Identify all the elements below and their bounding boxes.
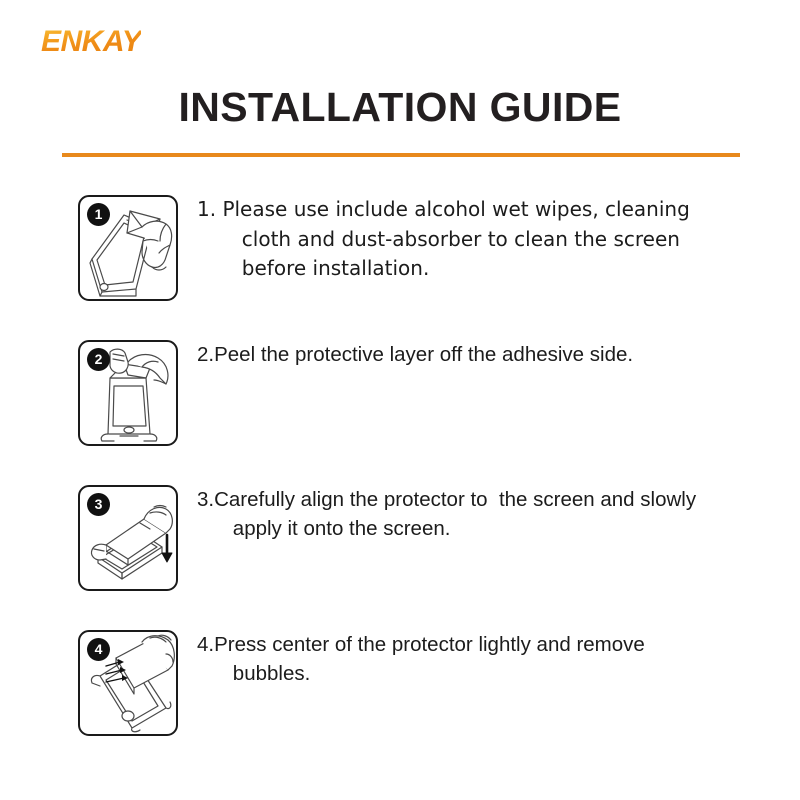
step-badge-1: 1 — [87, 203, 110, 226]
step-figure-2: 2 — [78, 340, 178, 446]
title-divider — [62, 153, 740, 157]
step-text-3: 3.Carefully align the protector to the s… — [197, 485, 770, 543]
page-title: INSTALLATION GUIDE — [0, 84, 800, 131]
brand-logo: ENKAY — [41, 27, 141, 57]
step-figure-4: 4 — [78, 630, 178, 736]
step-badge-3: 3 — [87, 493, 110, 516]
step-figure-1: 1 — [78, 195, 178, 301]
step-text-2: 2.Peel the protective layer off the adhe… — [197, 340, 770, 369]
installation-guide-page: ENKAY ENKAY INSTALLATION GUIDE 1 — [0, 0, 800, 800]
step-badge-2: 2 — [87, 348, 110, 371]
step-badge-4: 4 — [87, 638, 110, 661]
step-text-4: 4.Press center of the protector lightly … — [197, 630, 770, 688]
step-text-1: 1. Please use include alcohol wet wipes,… — [197, 195, 770, 284]
step-figure-3: 3 — [78, 485, 178, 591]
